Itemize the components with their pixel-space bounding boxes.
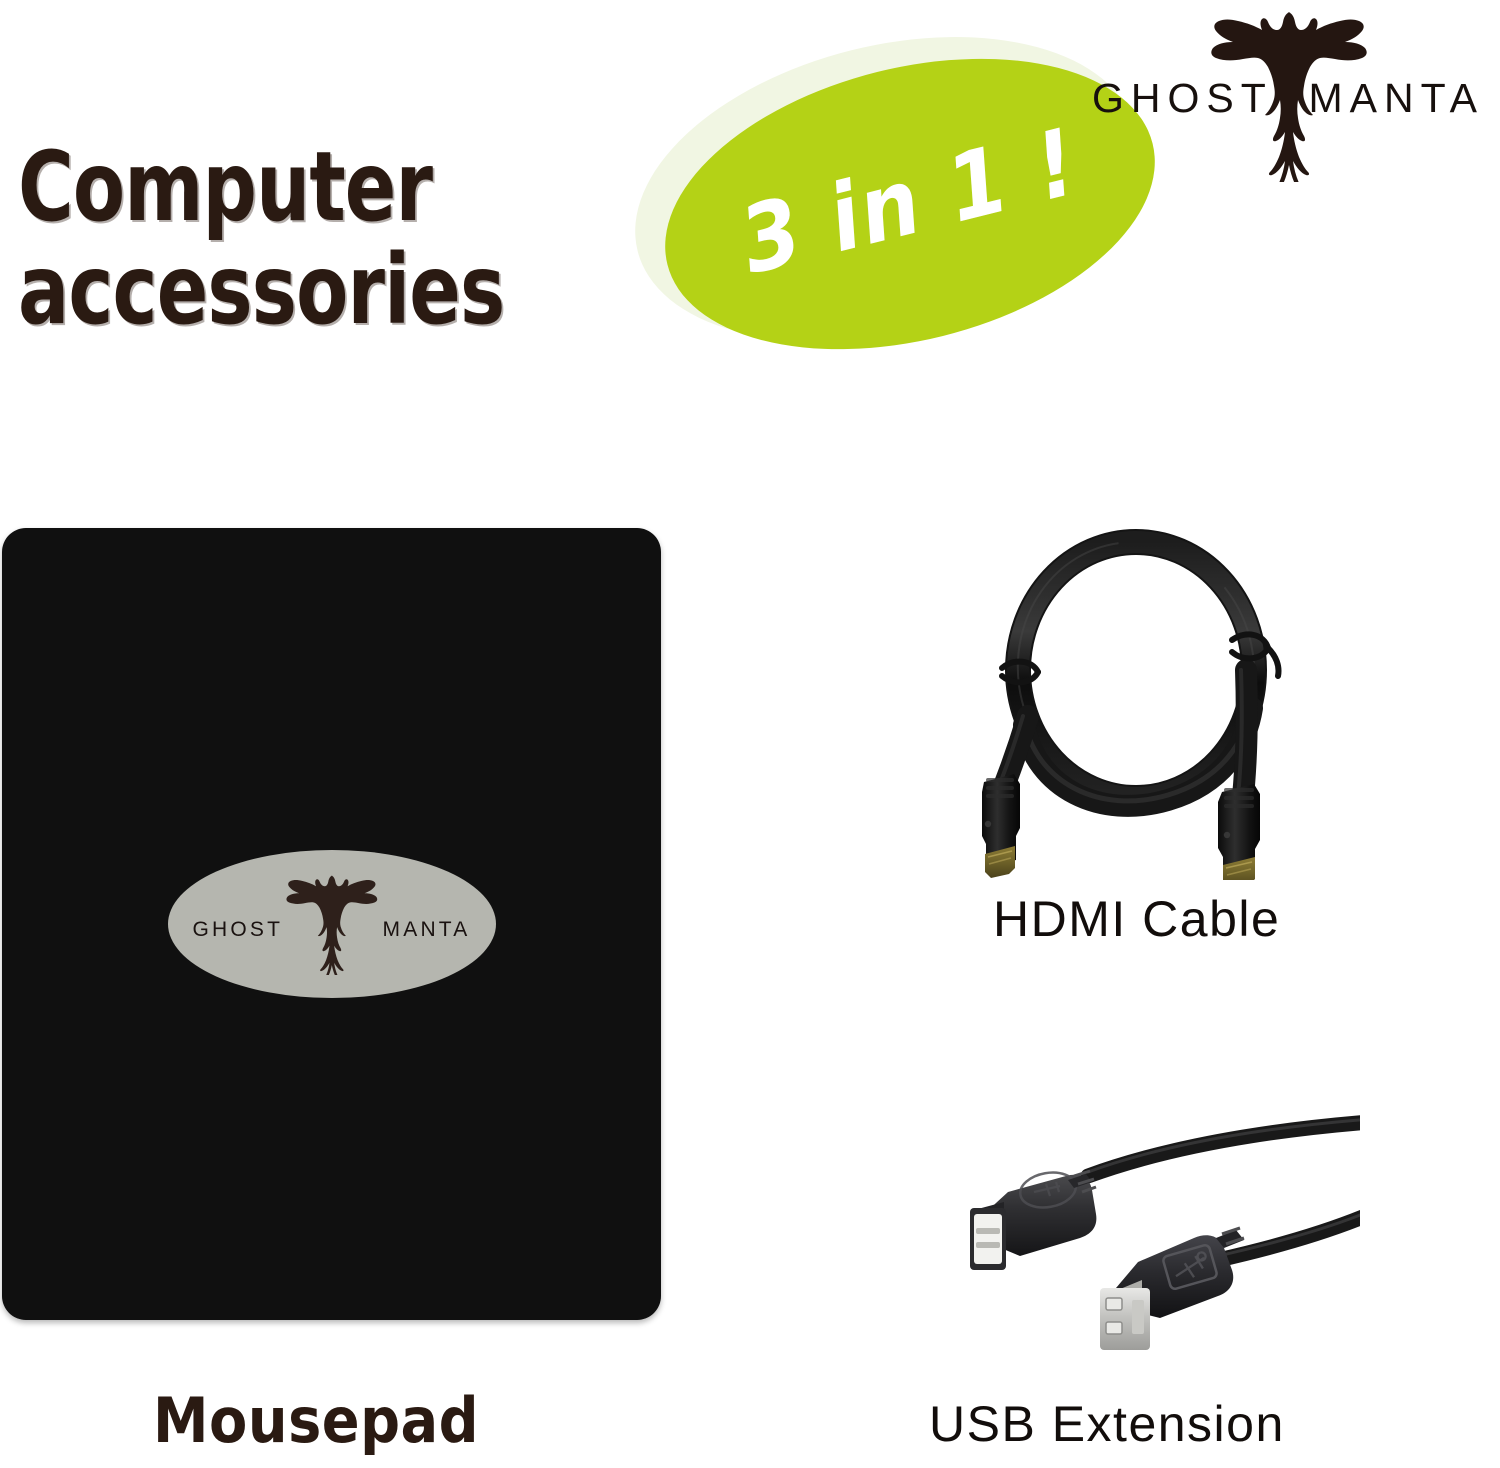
three-in-one-badge: 3 in 1 !	[630, 46, 1170, 356]
product-image-usb-extension	[940, 1110, 1360, 1360]
caption-usb-extension: USB Extension	[929, 1395, 1285, 1453]
brand-word-manta: MANTA	[1309, 78, 1484, 119]
product-infographic-canvas: Computer accessories 3 in 1 ! GHOST MANT…	[0, 0, 1500, 1468]
page-title-line-2: accessories	[18, 239, 652, 342]
mousepad-brand-word-manta: MANTA	[383, 919, 471, 940]
page-title: Computer accessories	[18, 136, 652, 341]
page-title-line-1: Computer	[18, 136, 652, 239]
hdmi-connector-right	[1218, 784, 1260, 880]
usb-female-connector	[970, 1168, 1096, 1270]
mousepad-brand-logo: GHOST MANTA	[187, 869, 477, 979]
product-image-hdmi-cable	[940, 520, 1340, 880]
mousepad-brand-word-ghost: GHOST	[193, 919, 284, 940]
hdmi-connector-left	[982, 774, 1020, 878]
brand-logo: GHOST MANTA	[1092, 4, 1484, 184]
usb-female-port-slot	[974, 1214, 1002, 1264]
usb-male-connector	[1100, 1228, 1244, 1350]
mousepad-logo-badge: GHOST MANTA	[168, 850, 496, 998]
caption-mousepad: Mousepad	[153, 1384, 479, 1457]
usb-cable-wire-top	[1088, 1122, 1360, 1176]
product-image-mousepad: GHOST MANTA	[2, 528, 661, 1320]
manta-ray-icon	[277, 871, 389, 975]
brand-word-ghost: GHOST	[1092, 78, 1273, 119]
hdmi-cable-loop	[1001, 527, 1270, 813]
caption-hdmi-cable: HDMI Cable	[993, 890, 1280, 948]
